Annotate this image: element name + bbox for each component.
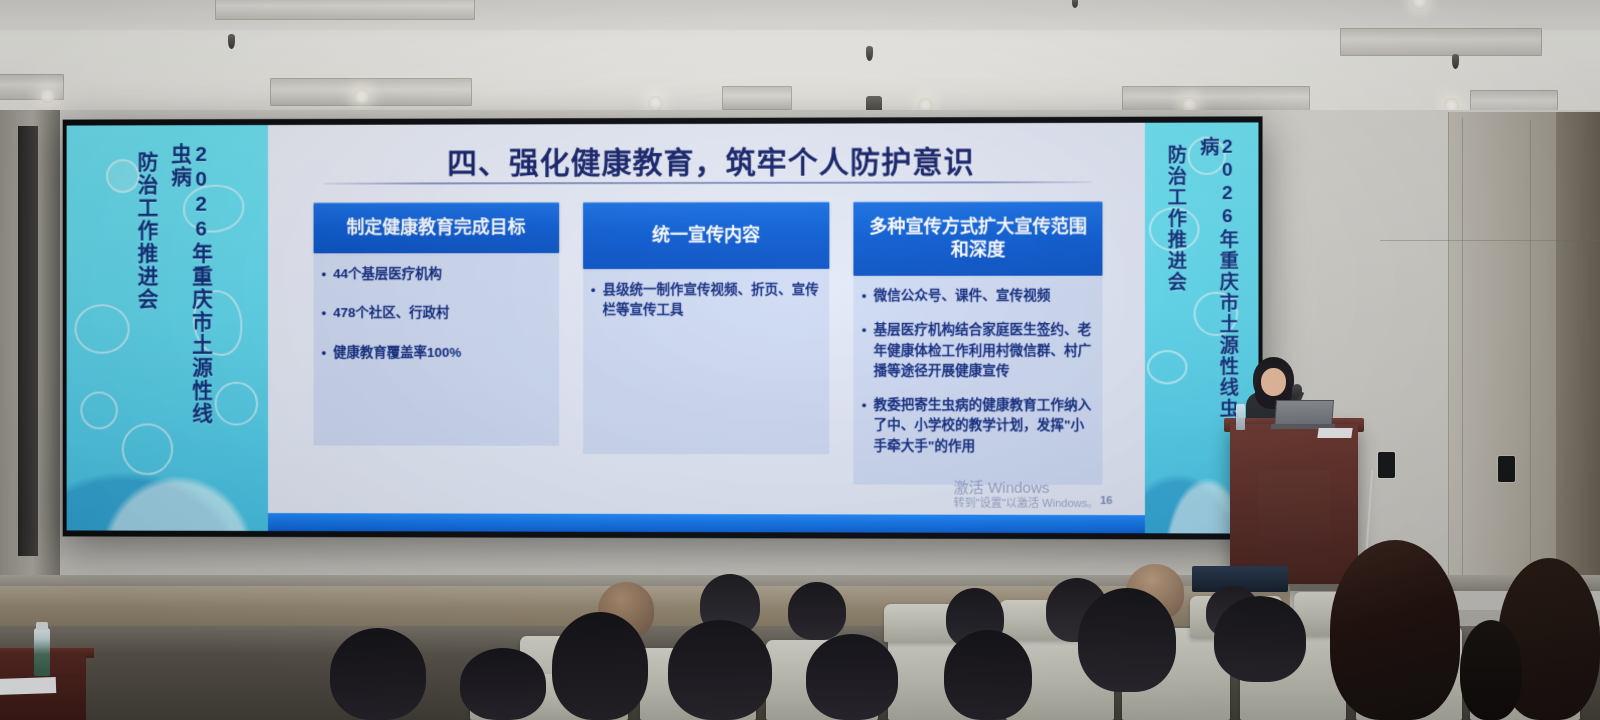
column-heading: 制定健康教育完成目标 xyxy=(314,202,559,253)
watermark-line1: 激活 Windows xyxy=(954,480,1099,498)
banner-left-line1: 2026年重庆市土源性线虫病 xyxy=(169,143,211,441)
microphone-icon xyxy=(1292,384,1302,397)
fire-sprinkler xyxy=(228,34,235,49)
bullet-item: • 微信公众号、课件、宣传视频 xyxy=(862,286,1095,306)
podium-papers xyxy=(1317,428,1352,438)
column-heading: 多种宣传方式扩大宣传范围和深度 xyxy=(854,201,1103,276)
ceiling-downlight xyxy=(648,96,663,111)
title-divider xyxy=(324,181,1093,184)
bullet-item: • 健康教育覆盖率100% xyxy=(322,342,551,362)
slide-page-number: 16 xyxy=(1100,495,1112,507)
wall-socket xyxy=(1378,452,1395,478)
bullet-marker: • xyxy=(322,342,327,362)
water-bottle-cap xyxy=(36,622,48,630)
bullet-marker: • xyxy=(862,320,867,381)
audience-head xyxy=(552,612,648,720)
banner-wave-graphic xyxy=(67,417,268,531)
column-body: • 44个基层医疗机构 • 478个社区、行政村 • 健康教育覆盖率100% xyxy=(314,253,559,446)
slide-column: 多种宣传方式扩大宣传范围和深度 • 微信公众号、课件、宣传视频 • 基层医疗机构… xyxy=(854,201,1103,484)
right-wall-dark-strip xyxy=(1556,112,1600,582)
slide-column: 统一宣传内容 • 县级统一制作宣传视频、折页、宣传栏等宣传工具 xyxy=(583,202,830,455)
audience-head xyxy=(788,582,846,640)
slide-columns: 制定健康教育完成目标 • 44个基层医疗机构 • 478个社区、行政村 xyxy=(314,201,1103,483)
slide-bottom-bar xyxy=(268,513,1145,533)
podium-water-bottle xyxy=(1236,404,1245,430)
bullet-marker: • xyxy=(591,280,596,320)
ceiling-vent xyxy=(722,86,792,110)
audience-head xyxy=(1330,540,1460,720)
slide-side-banner-left: 2026年重庆市土源性线虫病 防治工作推进会 xyxy=(67,125,268,531)
windows-activation-watermark: 激活 Windows 转到"设置"以激活 Windows。 xyxy=(954,480,1099,511)
presenter-face xyxy=(1261,368,1286,396)
column-body: • 县级统一制作宣传视频、折页、宣传栏等宣传工具 xyxy=(583,269,830,454)
fire-sprinkler xyxy=(866,46,873,61)
bullet-marker: • xyxy=(862,395,867,456)
wall-panel-seam xyxy=(1448,112,1449,582)
ceiling-downlight xyxy=(354,89,369,104)
ceiling-vent xyxy=(270,78,472,106)
wall-socket xyxy=(1498,456,1515,482)
bullet-text: 基层医疗机构结合家庭医生签约、老年健康体检工作利用村微信群、村广播等途径开展健康… xyxy=(874,320,1095,381)
bullet-text: 县级统一制作宣传视频、折页、宣传栏等宣传工具 xyxy=(602,280,821,321)
banner-right-line2: 防治工作推进会 xyxy=(1165,145,1185,306)
bullet-item: • 教委把寄生虫病的健康教育工作纳入了中、小学校的教学计划，发挥"小手牵大手"的… xyxy=(862,395,1095,456)
bullet-item: • 478个社区、行政村 xyxy=(322,303,551,323)
bullet-text: 健康教育覆盖率100% xyxy=(333,342,461,362)
bullet-item: • 基层医疗机构结合家庭医生签约、老年健康体检工作利用村微信群、村广播等途径开展… xyxy=(862,320,1095,381)
projection-screen-image: 2026年重庆市土源性线虫病 防治工作推进会 2026年重庆市土源性线虫病 防治… xyxy=(67,122,1259,533)
left-wall-dark-recess xyxy=(18,126,38,556)
bullet-text: 478个社区、行政村 xyxy=(333,303,449,323)
bullet-text: 教委把寄生虫病的健康教育工作纳入了中、小学校的教学计划，发挥"小手牵大手"的作用 xyxy=(874,395,1095,456)
photo-scene: 2026年重庆市土源性线虫病 防治工作推进会 2026年重庆市土源性线虫病 防治… xyxy=(0,0,1600,720)
ceiling-vent xyxy=(1122,86,1310,112)
wall-panel-seam xyxy=(1462,118,1463,582)
bullet-marker: • xyxy=(862,286,867,306)
audience-head xyxy=(330,628,426,720)
audience-head xyxy=(1214,596,1306,682)
ceiling-vent xyxy=(215,0,475,20)
bullet-text: 44个基层医疗机构 xyxy=(333,264,442,284)
audience-head xyxy=(460,648,546,720)
microbe-decoration-icon xyxy=(74,304,129,354)
column-heading: 统一宣传内容 xyxy=(583,202,830,269)
projection-screen: 2026年重庆市土源性线虫病 防治工作推进会 2026年重庆市土源性线虫病 防治… xyxy=(63,116,1263,539)
banner-right-line1: 2026年重庆市土源性线虫病 xyxy=(1198,137,1237,439)
slide-column: 制定健康教育完成目标 • 44个基层医疗机构 • 478个社区、行政村 xyxy=(314,202,559,446)
bullet-item: • 县级统一制作宣传视频、折页、宣传栏等宣传工具 xyxy=(591,280,822,321)
microbe-decoration-icon xyxy=(1147,350,1188,384)
ceiling xyxy=(0,0,1600,118)
banner-left-line2: 防治工作推进会 xyxy=(136,151,157,330)
column-body: • 微信公众号、课件、宣传视频 • 基层医疗机构结合家庭医生签约、老年健康体检工… xyxy=(854,276,1103,485)
bullet-text: 微信公众号、课件、宣传视频 xyxy=(874,286,1051,306)
wall-panel-seam xyxy=(1530,120,1531,580)
audience-head xyxy=(944,630,1032,720)
bullet-item: • 44个基层医疗机构 xyxy=(322,264,551,284)
bullet-marker: • xyxy=(322,264,327,284)
audience-head xyxy=(806,634,898,720)
audience-head xyxy=(668,620,772,720)
ceiling-vent xyxy=(1340,28,1542,56)
watermark-line2: 转到"设置"以激活 Windows。 xyxy=(954,498,1099,511)
water-bottle xyxy=(34,628,50,676)
desk-papers xyxy=(0,677,56,695)
bullet-marker: • xyxy=(322,303,327,323)
audience-head xyxy=(1078,588,1176,692)
audience-head xyxy=(1460,620,1522,720)
ceiling-downlight xyxy=(40,88,55,103)
wall-panel-seam xyxy=(1380,240,1600,241)
fire-sprinkler xyxy=(1452,54,1459,69)
slide-title: 四、强化健康教育，筑牢个人防护意识 xyxy=(320,137,1105,183)
slide-content: 四、强化健康教育，筑牢个人防护意识 制定健康教育完成目标 • 44个基层医疗机构 xyxy=(268,123,1145,534)
